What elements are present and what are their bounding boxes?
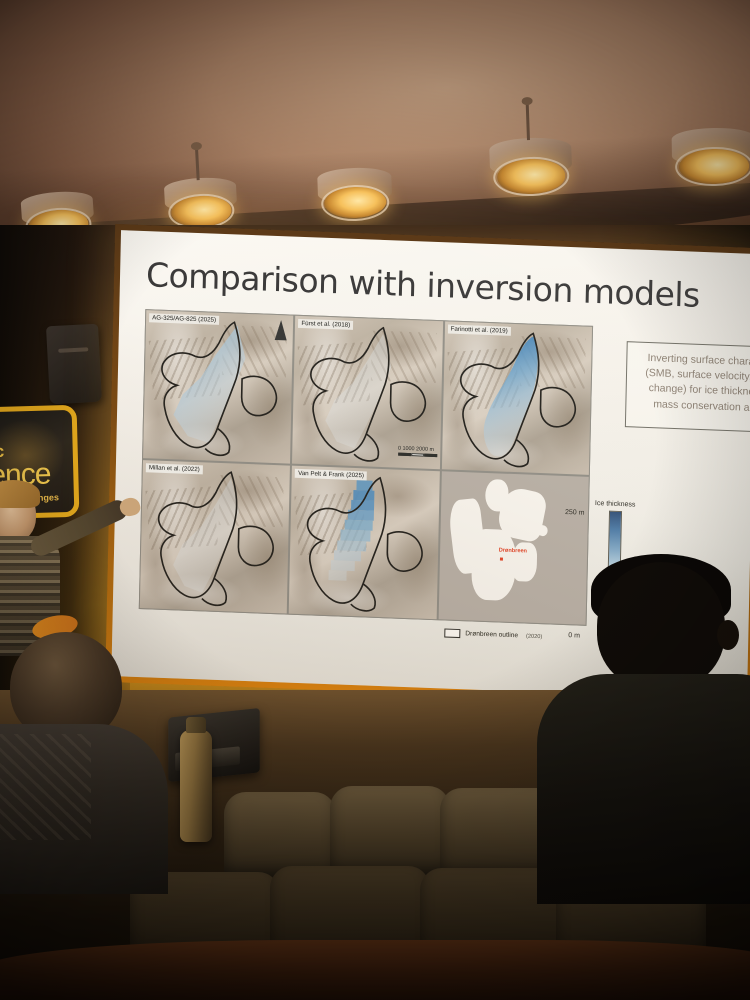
glacier-map	[289, 466, 439, 619]
wall-speaker	[46, 324, 102, 405]
legend-glacier-outline: Drønbreen outline (2020)	[444, 628, 542, 641]
legend-year: (2020)	[526, 633, 542, 640]
slide-title: Comparison with inversion models	[146, 255, 700, 315]
ceiling-spotlight-3	[317, 167, 393, 226]
lecture-hall-photo: c ence llenges Comparison with inversion…	[0, 0, 750, 1000]
inset-location-marker	[500, 558, 503, 561]
audience-member-left	[0, 632, 180, 882]
water-bottle	[180, 730, 212, 842]
glacier-map	[442, 321, 592, 474]
bottle-cap	[186, 717, 206, 733]
north-arrow-icon	[275, 320, 287, 340]
audience-member-right	[545, 562, 750, 892]
inset-location-label: Drønbreen	[499, 547, 527, 554]
map-scalebar: 0 1000 2000 m	[398, 445, 437, 457]
audience-head	[597, 562, 725, 690]
ceiling-spotlight-5	[671, 127, 750, 190]
map-panel-farinotti[interactable]: Farinotti et al. (2019)	[442, 321, 592, 474]
map-panel-ag325[interactable]: AG-325/AG-825 (2025)	[143, 310, 293, 463]
island-shape	[471, 529, 517, 602]
legend-swatch	[444, 628, 460, 638]
island-shape	[537, 525, 548, 536]
spotlight-rim	[675, 146, 750, 187]
audience-ear	[717, 620, 739, 650]
legend-label: Drønbreen outline	[465, 630, 518, 639]
island-shape	[485, 479, 509, 512]
glacier-map	[143, 310, 293, 463]
audience-torso	[537, 674, 750, 904]
colorbar-title: Ice thickness	[567, 499, 663, 510]
presenter-arm	[28, 497, 131, 559]
ceiling-spotlight-4	[489, 137, 573, 202]
presenter-hair	[0, 480, 40, 508]
panel-grid: AG-325/AG-825 (2025) Fürst et al. (2018)	[139, 309, 593, 626]
map-panel-furst[interactable]: Fürst et al. (2018) 0 1000 2000 m	[292, 316, 442, 469]
slide-textbox: Inverting surface characteristics (SMB, …	[625, 341, 750, 434]
audience-torso	[0, 724, 168, 894]
map-panel-vanpelt[interactable]: Van Pelt & Frank (2025)	[289, 466, 439, 619]
front-row-rail	[0, 940, 750, 1000]
theater-seat	[330, 786, 450, 876]
colorbar-max-label: 250 m	[565, 509, 585, 517]
